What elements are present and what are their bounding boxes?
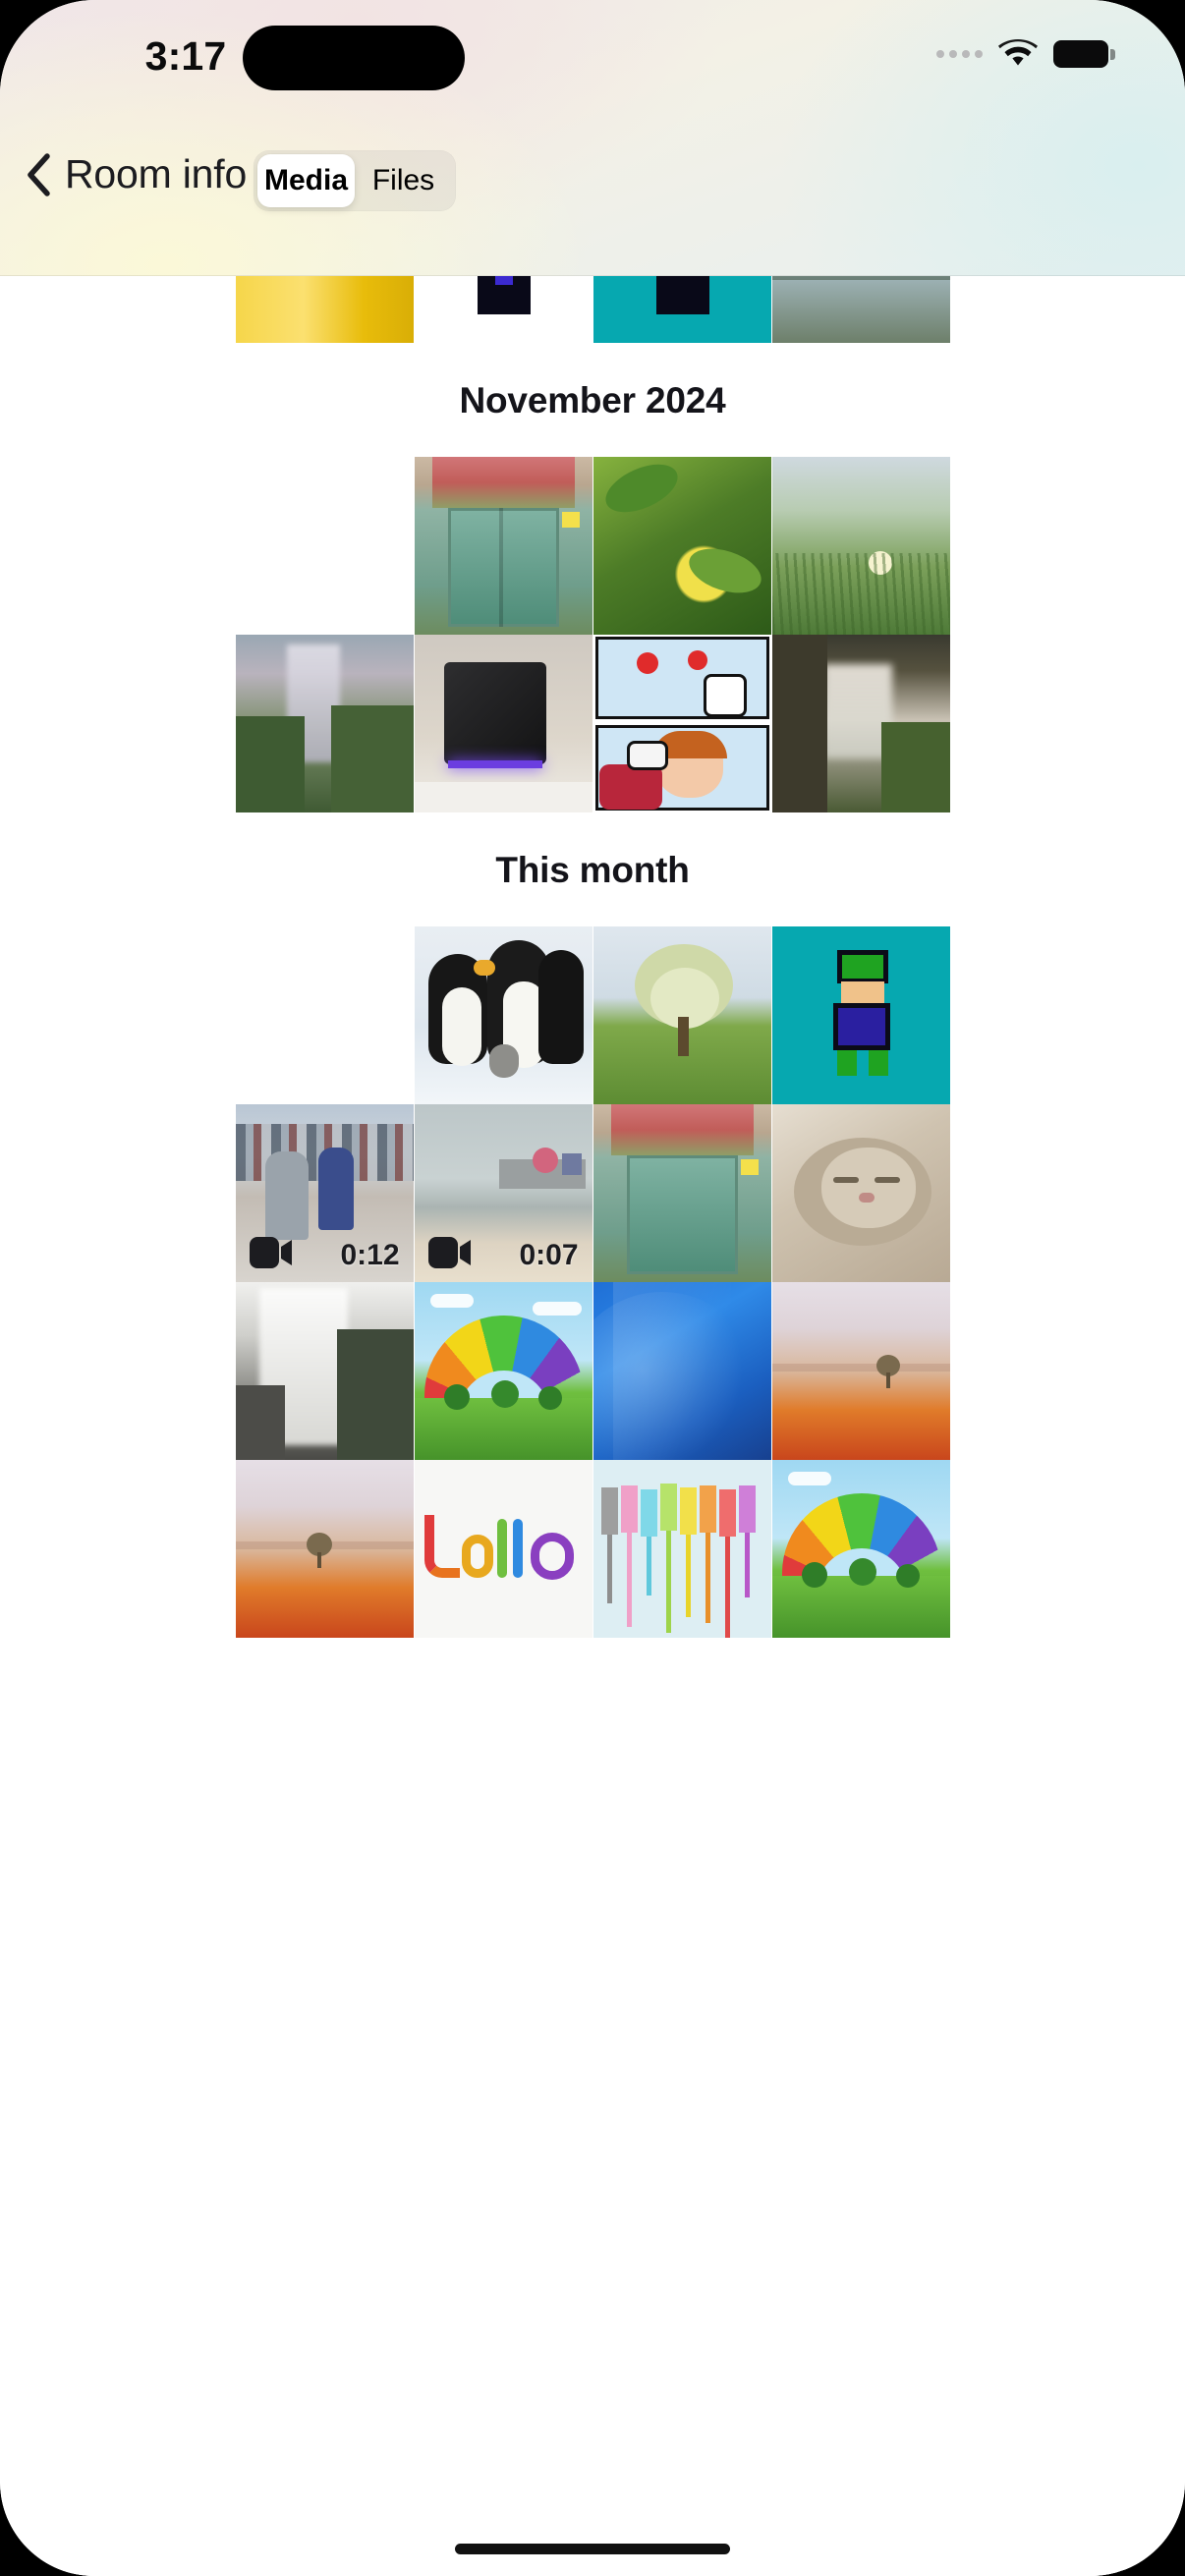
media-thumbnail[interactable] bbox=[772, 457, 950, 635]
desert-sunrise-tree-2 bbox=[236, 1460, 414, 1638]
media-thumbnail[interactable] bbox=[772, 276, 950, 343]
rainbow-landscape-art-2 bbox=[772, 1460, 950, 1638]
desert-sunrise-tree bbox=[772, 1282, 950, 1460]
rainbow-landscape-art bbox=[415, 1282, 592, 1460]
signal-dots-icon bbox=[936, 50, 983, 58]
media-thumbnail[interactable] bbox=[593, 1104, 771, 1282]
media-scroll-area[interactable]: November 2024 bbox=[0, 276, 1185, 2576]
media-thumbnail[interactable] bbox=[772, 1104, 950, 1282]
media-grid-this-month-row3 bbox=[0, 1282, 1185, 1460]
media-thumbnail[interactable] bbox=[593, 635, 771, 812]
tab-media[interactable]: Media bbox=[257, 154, 355, 207]
dynamic-island bbox=[243, 26, 465, 90]
media-thumbnail[interactable] bbox=[593, 1460, 771, 1638]
video-camera-icon bbox=[428, 1235, 472, 1270]
video-duration: 0:07 bbox=[519, 1239, 578, 1272]
bw-waterfall-rocks bbox=[236, 1282, 414, 1460]
navigation-bar: Room info Media Files bbox=[0, 110, 1185, 276]
media-thumbnail-video[interactable]: 0:12 bbox=[236, 1104, 414, 1282]
black-pc-tower bbox=[415, 635, 592, 812]
battery-icon bbox=[1053, 40, 1108, 68]
sleeping-kitten bbox=[772, 1104, 950, 1282]
media-thumbnail[interactable] bbox=[415, 276, 592, 343]
media-thumbnail[interactable] bbox=[593, 276, 771, 343]
media-thumbnail[interactable] bbox=[772, 1282, 950, 1460]
status-bar: 3:17 bbox=[0, 0, 1185, 110]
media-grid-november-2024-row2 bbox=[0, 635, 1185, 812]
hello-lettering-art bbox=[415, 1460, 592, 1638]
media-grid-this-month-row2: 0:12 0:07 bbox=[0, 1104, 1185, 1282]
media-thumbnail[interactable] bbox=[236, 1460, 414, 1638]
media-thumbnail[interactable] bbox=[772, 926, 950, 1104]
media-grid-november-2024 bbox=[0, 457, 1185, 635]
paint-drip-colors bbox=[593, 1460, 771, 1638]
pixel-art-yellow bbox=[236, 276, 414, 343]
media-thumbnail[interactable] bbox=[772, 635, 950, 812]
media-thumbnail[interactable] bbox=[236, 635, 414, 812]
comic-meme-panels bbox=[593, 635, 771, 812]
media-grid-this-month-row1 bbox=[0, 926, 1185, 1104]
media-thumbnail[interactable] bbox=[415, 1282, 592, 1460]
media-thumbnail[interactable] bbox=[236, 1282, 414, 1460]
media-thumbnail-video[interactable]: 0:07 bbox=[415, 1104, 592, 1282]
grid-spacer bbox=[236, 457, 414, 635]
pixel-art-knight-white bbox=[415, 276, 592, 343]
media-thumbnail[interactable] bbox=[236, 276, 414, 343]
blue-abstract-wallpaper bbox=[593, 1282, 771, 1460]
chevron-left-icon bbox=[26, 153, 51, 196]
green-door-flowers-2 bbox=[593, 1104, 771, 1282]
pixel-art-knight-teal bbox=[593, 276, 771, 343]
pixel-art-green-hood bbox=[772, 926, 950, 1104]
green-door-flowers bbox=[415, 457, 592, 635]
media-thumbnail[interactable] bbox=[593, 926, 771, 1104]
tab-files[interactable]: Files bbox=[355, 154, 452, 207]
media-thumbnail[interactable] bbox=[772, 1460, 950, 1638]
emperor-penguins bbox=[415, 926, 592, 1104]
river-boats-photo bbox=[772, 276, 950, 343]
video-duration: 0:12 bbox=[340, 1239, 399, 1272]
back-button[interactable]: Room info bbox=[26, 151, 247, 197]
status-icons bbox=[936, 39, 1108, 68]
section-header-november-2024: November 2024 bbox=[0, 343, 1185, 457]
waterfall-cliff bbox=[236, 635, 414, 812]
section-header-this-month: This month bbox=[0, 812, 1185, 926]
video-camera-icon bbox=[250, 1235, 293, 1270]
media-thumbnail[interactable] bbox=[593, 1282, 771, 1460]
media-thumbnail[interactable] bbox=[593, 457, 771, 635]
media-files-segmented-control[interactable]: Media Files bbox=[254, 150, 456, 211]
lemon-tree-leaves bbox=[593, 457, 771, 635]
media-row-partial bbox=[0, 276, 1185, 343]
media-thumbnail[interactable] bbox=[415, 1460, 592, 1638]
home-indicator[interactable] bbox=[455, 2544, 730, 2554]
media-thumbnail[interactable] bbox=[415, 635, 592, 812]
back-button-label: Room info bbox=[65, 151, 247, 197]
grass-flower-field bbox=[772, 457, 950, 635]
wifi-icon bbox=[998, 39, 1038, 68]
phone-screen: 3:17 Room info Media Files bbox=[0, 0, 1185, 2576]
media-thumbnail[interactable] bbox=[415, 926, 592, 1104]
grid-spacer bbox=[236, 926, 414, 1104]
blossom-tree-field bbox=[593, 926, 771, 1104]
media-grid-this-month-row4 bbox=[0, 1460, 1185, 1638]
bottom-safe-area bbox=[0, 2501, 1185, 2576]
waterfall-mossy-rocks bbox=[772, 635, 950, 812]
media-thumbnail[interactable] bbox=[415, 457, 592, 635]
